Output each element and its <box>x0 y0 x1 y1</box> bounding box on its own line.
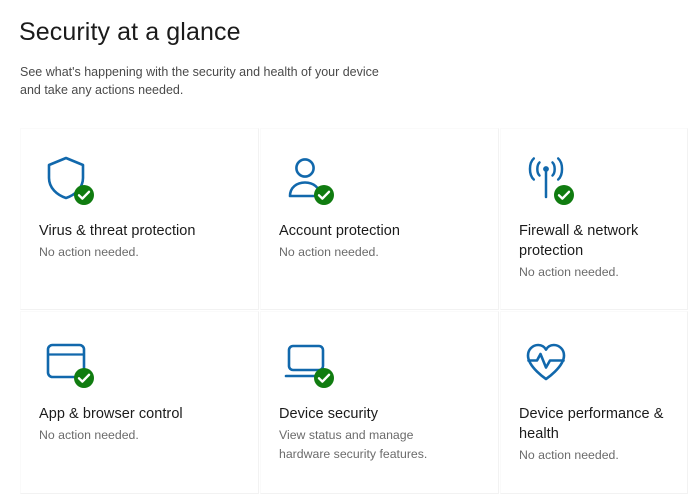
tile-device-security[interactable]: Device security View status and manage h… <box>260 311 499 494</box>
tile-title: Account protection <box>279 221 480 241</box>
page-subtitle: See what's happening with the security a… <box>20 63 420 99</box>
tile-title: App & browser control <box>39 404 240 424</box>
tile-title: Virus & threat protection <box>39 221 240 241</box>
green-check-badge <box>73 367 95 389</box>
tile-device-performance-health[interactable]: Device performance & health No action ne… <box>500 311 688 494</box>
tile-status-line-1: No action needed. <box>39 243 240 262</box>
tile-status: No action needed. <box>39 426 240 445</box>
tile-title: Device security <box>279 404 480 424</box>
tile-firewall-network-protection[interactable]: Firewall & network protection No action … <box>500 128 688 310</box>
person-icon <box>279 151 333 205</box>
tile-status: View status and manage hardware security… <box>279 426 480 464</box>
tile-title: Device performance & health <box>519 404 669 444</box>
tile-status: No action needed. <box>279 243 480 262</box>
tile-status-line-1: No action needed. <box>39 426 240 445</box>
tile-app-browser-control[interactable]: App & browser control No action needed. <box>20 311 259 494</box>
tile-status: No action needed. <box>39 243 240 262</box>
tile-account-protection[interactable]: Account protection No action needed. <box>260 128 499 310</box>
broadcast-antenna-icon <box>519 151 573 205</box>
tile-status-line-1: No action needed. <box>519 263 669 282</box>
green-check-badge <box>73 184 95 206</box>
page-title: Security at a glance <box>19 16 688 48</box>
tile-title: Firewall & network protection <box>519 221 669 261</box>
browser-window-icon <box>39 334 93 388</box>
tile-status-line-2: hardware security features. <box>279 445 480 464</box>
tile-status: No action needed. <box>519 263 669 282</box>
tile-status-line-1: View status and manage <box>279 426 480 445</box>
green-check-badge <box>313 367 335 389</box>
laptop-icon <box>279 334 333 388</box>
shield-icon <box>39 151 93 205</box>
tile-status-line-1: No action needed. <box>519 446 669 465</box>
tile-virus-threat-protection[interactable]: Virus & threat protection No action need… <box>20 128 259 310</box>
green-check-badge <box>553 184 575 206</box>
heart-pulse-icon <box>519 334 573 388</box>
tile-status-line-1: No action needed. <box>279 243 480 262</box>
green-check-badge <box>313 184 335 206</box>
page-subtitle-line-2: and take any actions needed. <box>20 81 420 99</box>
page-header: Security at a glance See what's happenin… <box>0 0 688 99</box>
page-subtitle-line-1: See what's happening with the security a… <box>20 63 420 81</box>
tile-status: No action needed. <box>519 446 669 465</box>
security-tile-grid: Virus & threat protection No action need… <box>20 128 688 494</box>
